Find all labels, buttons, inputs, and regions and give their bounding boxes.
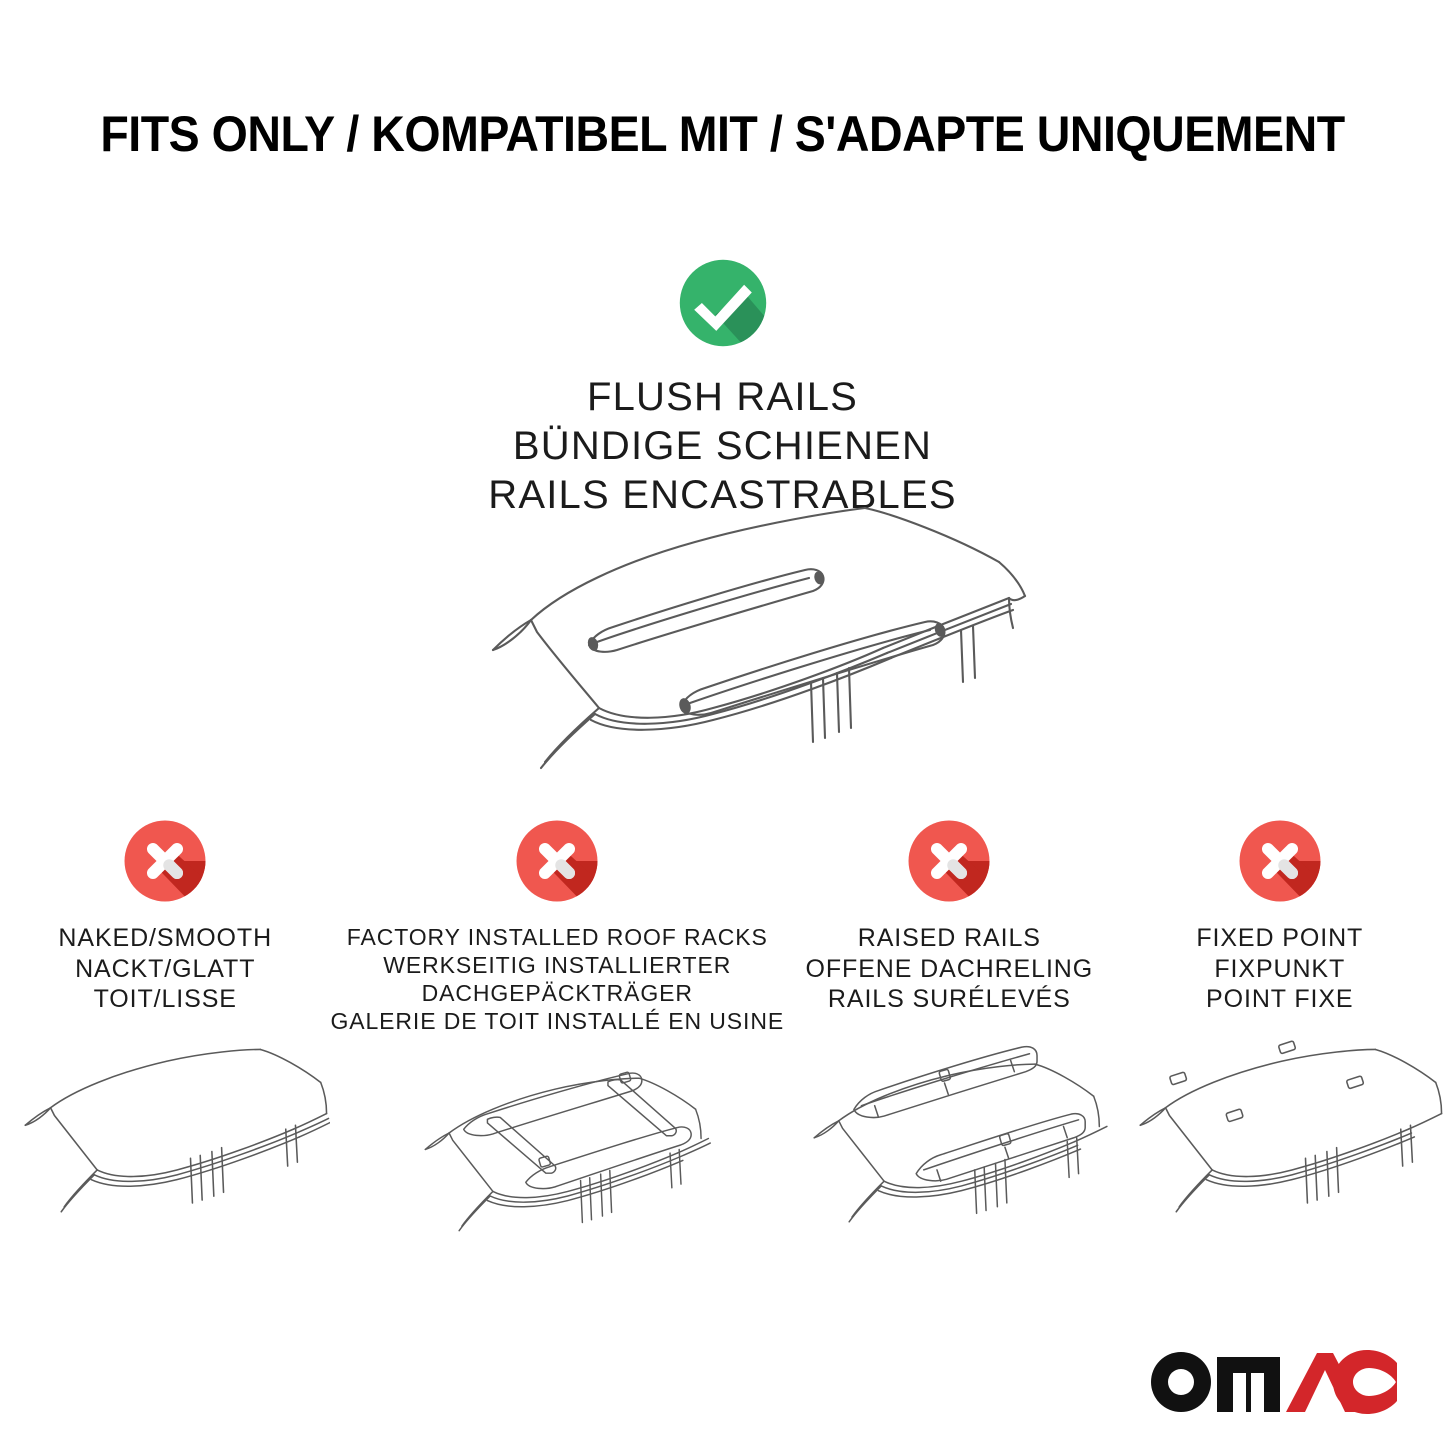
red-x-icon: [511, 815, 603, 907]
caption-line-fr: TOIT/LISSE: [58, 984, 272, 1015]
incompatible-item-raised-rails: RAISED RAILS OFFENE DACHRELING RAILS SUR…: [784, 815, 1114, 1239]
incompatible-item-naked-smooth: NAKED/SMOOTH NACKT/GLATT TOIT/LISSE: [0, 815, 330, 1239]
page-title: FITS ONLY / KOMPATIBEL MIT / S'ADAPTE UN…: [51, 105, 1395, 163]
caption-line-en: NAKED/SMOOTH: [58, 923, 272, 954]
car-roof-fixed-point-illustration: [1115, 1029, 1445, 1239]
red-x-icon: [903, 815, 995, 907]
caption-line-en: RAISED RAILS: [806, 923, 1094, 954]
caption-line-en: FACTORY INSTALLED ROOF RACKS: [330, 923, 784, 951]
caption-line-de: FIXPUNKT: [1196, 954, 1363, 985]
compatible-line-en: FLUSH RAILS: [0, 373, 1445, 422]
caption-line-fr: POINT FIXE: [1196, 984, 1363, 1015]
incompatible-caption-factory-rack: FACTORY INSTALLED ROOF RACKS WERKSEITIG …: [330, 923, 784, 1035]
incompatible-caption-raised-rails: RAISED RAILS OFFENE DACHRELING RAILS SUR…: [806, 923, 1094, 1015]
car-roof-flush-rails-illustration: [413, 470, 1033, 770]
caption-line-fr: RAILS SURÉLEVÉS: [806, 984, 1094, 1015]
red-x-icon: [1234, 815, 1326, 907]
car-roof-raised-rails-illustration: [784, 1029, 1114, 1239]
omac-logo: [1147, 1347, 1397, 1417]
incompatible-item-factory-rack: FACTORY INSTALLED ROOF RACKS WERKSEITIG …: [330, 815, 784, 1259]
car-roof-naked-smooth-illustration: [0, 1029, 330, 1239]
caption-line-en: FIXED POINT: [1196, 923, 1363, 954]
caption-line-de-2: DACHGEPÄCKTRÄGER: [330, 979, 784, 1007]
car-roof-factory-rack-illustration: [330, 1049, 784, 1259]
incompatible-caption-naked-smooth: NAKED/SMOOTH NACKT/GLATT TOIT/LISSE: [58, 923, 272, 1015]
red-x-icon: [119, 815, 211, 907]
compatible-line-de: BÜNDIGE SCHIENEN: [0, 422, 1445, 471]
incompatible-item-fixed-point: FIXED POINT FIXPUNKT POINT FIXE: [1115, 815, 1445, 1239]
caption-line-de: NACKT/GLATT: [58, 954, 272, 985]
caption-line-de: OFFENE DACHRELING: [806, 954, 1094, 985]
green-check-icon: [675, 255, 771, 351]
incompatible-section: NAKED/SMOOTH NACKT/GLATT TOIT/LISSE: [0, 815, 1445, 1259]
caption-line-de-1: WERKSEITIG INSTALLIERTER: [330, 951, 784, 979]
compatible-section: FLUSH RAILS BÜNDIGE SCHIENEN RAILS ENCAS…: [0, 255, 1445, 519]
caption-line-fr: GALERIE DE TOIT INSTALLÉ EN USINE: [330, 1007, 784, 1035]
incompatible-caption-fixed-point: FIXED POINT FIXPUNKT POINT FIXE: [1196, 923, 1363, 1015]
